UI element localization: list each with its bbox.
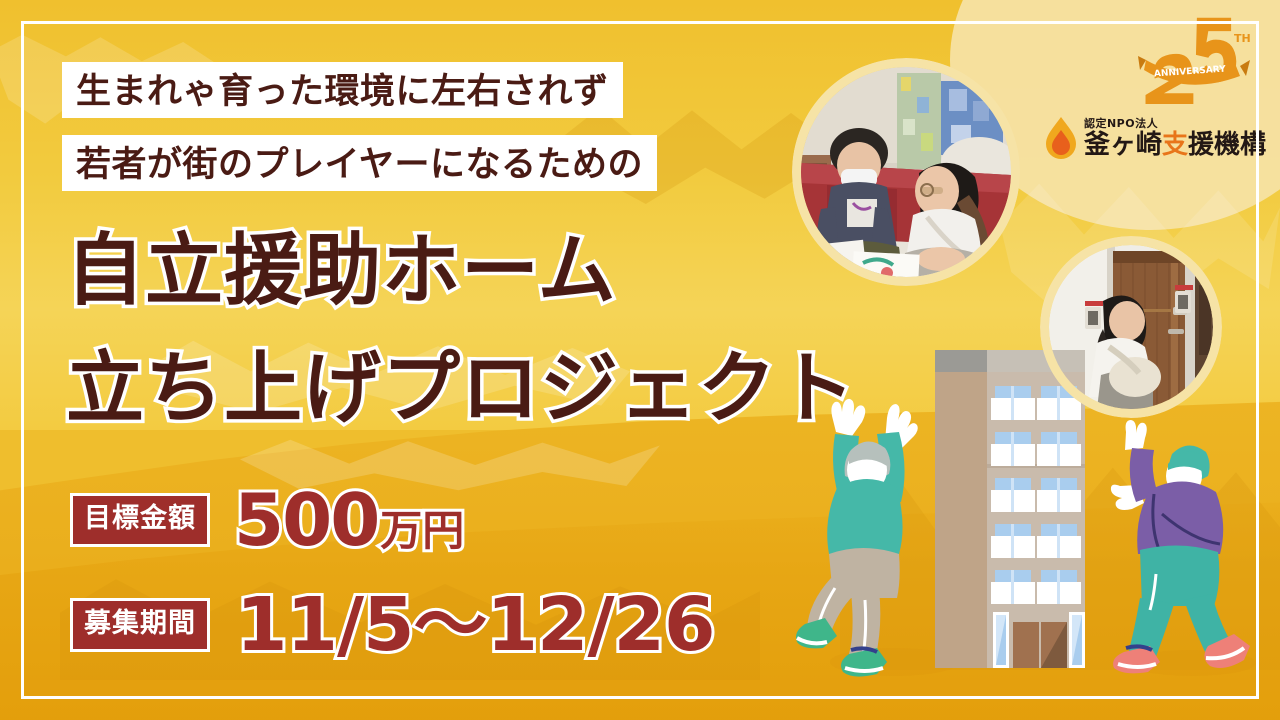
anniversary-logo: ANNIVERSARY TH bbox=[1134, 12, 1254, 104]
photo-two-young-people-on-sofa bbox=[792, 58, 1020, 286]
target-amount-value: 500 万円 bbox=[234, 484, 464, 556]
campaign-period-value: 11/5〜12/26 bbox=[236, 588, 714, 662]
photo-1-illustration bbox=[801, 67, 1011, 277]
apartment-building-illustration bbox=[925, 340, 1095, 680]
campaign-period-badge: 募集期間 bbox=[70, 598, 210, 652]
project-title-line-1: 自立援助ホーム bbox=[66, 232, 617, 310]
building-svg bbox=[925, 340, 1095, 680]
anniversary-25th-icon: ANNIVERSARY TH bbox=[1134, 12, 1254, 104]
npo-logo: 認定NPO法人 釜ヶ崎支援機構 bbox=[1044, 116, 1266, 160]
npo-name-part-1: 釜ヶ崎 bbox=[1084, 130, 1162, 160]
target-amount-row: 目標金額 500 万円 bbox=[70, 484, 464, 556]
target-amount-number: 500 bbox=[234, 484, 378, 556]
npo-name-highlight: 支 bbox=[1162, 130, 1188, 160]
figure-right-svg bbox=[1110, 418, 1260, 680]
npo-sub-text: 認定NPO法人 bbox=[1084, 118, 1266, 129]
npo-name: 釜ヶ崎支援機構 bbox=[1084, 132, 1266, 158]
anniversary-ordinal: TH bbox=[1234, 32, 1251, 45]
flame-icon bbox=[1044, 116, 1078, 160]
waving-person-illustration bbox=[1110, 418, 1260, 680]
cheering-person-illustration bbox=[795, 392, 935, 680]
headline-banner-1: 生まれゃ育った環境に左右されず bbox=[62, 62, 623, 118]
poster-canvas: 生まれゃ育った環境に左右されず 若者が街のプレイヤーになるための 自立援助ホーム… bbox=[0, 0, 1280, 720]
headline-line-1: 生まれゃ育った環境に左右されず bbox=[76, 63, 609, 114]
project-title-line-2: 立ち上げプロジェクト bbox=[66, 350, 856, 428]
headline-banner-2: 若者が街のプレイヤーになるための bbox=[62, 135, 657, 191]
figure-left-svg bbox=[795, 392, 935, 680]
headline-line-2: 若者が街のプレイヤーになるための bbox=[76, 136, 643, 187]
npo-name-part-2: 援機構 bbox=[1188, 130, 1266, 160]
target-amount-unit: 万円 bbox=[380, 510, 464, 552]
campaign-period-row: 募集期間 11/5〜12/26 bbox=[70, 588, 714, 662]
photo-1-image bbox=[801, 67, 1011, 277]
npo-logo-text: 認定NPO法人 釜ヶ崎支援機構 bbox=[1084, 118, 1266, 158]
target-amount-badge: 目標金額 bbox=[70, 493, 210, 547]
